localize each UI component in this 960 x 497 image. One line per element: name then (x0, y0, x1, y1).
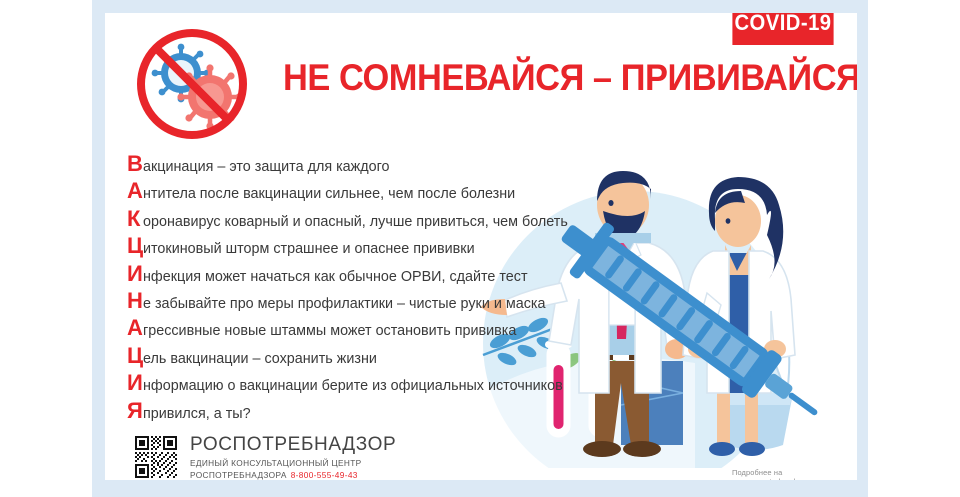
list-item: Я привился, а ты? (127, 400, 647, 427)
no-virus-prohibition-icon (128, 27, 256, 142)
list-item: Н е забывайте про меры профилактики – чи… (127, 290, 647, 317)
list-item: А нтитела после вакцинации сильнее, чем … (127, 180, 647, 207)
poster: COVID-19 (0, 0, 960, 497)
acrostic-initial: Я (127, 400, 143, 422)
acrostic-text: акцинация – это защита для каждого (143, 160, 390, 175)
acrostic-initial: И (127, 263, 143, 285)
acrostic-initial: И (127, 372, 143, 394)
acrostic-text: оронавирус коварный и опасный, лучше при… (143, 215, 568, 230)
acrostic-list: В акцинация – это защита для каждого А н… (127, 153, 647, 427)
footer: РОСПОТРЕБНАДЗОР ЕДИНЫЙ КОНСУЛЬТАЦИОННЫЙ … (133, 434, 396, 480)
consultation-center-label: РОСПОТРЕБНАДЗОРА (190, 470, 287, 480)
consultation-center-line1: ЕДИНЫЙ КОНСУЛЬТАЦИОННЫЙ ЦЕНТР (190, 457, 396, 469)
acrostic-text: итокиновый шторм страшнее и опаснее прив… (143, 242, 475, 257)
acrostic-initial: Н (127, 290, 143, 312)
list-item: Ц итокиновый шторм страшнее и опаснее пр… (127, 235, 647, 262)
acrostic-initial: К (127, 208, 143, 230)
list-item: К оронавирус коварный и опасный, лучше п… (127, 208, 647, 235)
list-item: В акцинация – это защита для каждого (127, 153, 647, 180)
acrostic-text: грессивные новые штаммы может остановить… (143, 324, 516, 339)
acrostic-initial: В (127, 153, 143, 175)
list-item: И нфекция может начаться как обычное ОРВ… (127, 263, 647, 290)
acrostic-initial: А (127, 180, 143, 202)
acrostic-text: нфекция может начаться как обычное ОРВИ,… (143, 270, 528, 285)
acrostic-text: ель вакцинации – сохранить жизни (143, 352, 377, 367)
acrostic-initial: Ц (127, 345, 143, 367)
list-item: И нформацию о вакцинации берите из офици… (127, 372, 647, 399)
acrostic-text: е забывайте про меры профилактики – чист… (143, 297, 545, 312)
acrostic-text: привился, а ты? (143, 407, 251, 422)
more-info-url[interactable]: Подробнее на www.rospotrebnadzor.ru (732, 468, 857, 480)
rospotrebnadzor-brand: РОСПОТРЕБНАДЗОР (190, 435, 396, 454)
acrostic-text: нформацию о вакцинации берите из официал… (143, 379, 563, 394)
acrostic-initial: А (127, 317, 143, 339)
poster-card: COVID-19 (105, 13, 857, 480)
list-item: Ц ель вакцинации – сохранить жизни (127, 345, 647, 372)
hotline-phone[interactable]: 8-800-555-49-43 (291, 470, 358, 480)
list-item: А грессивные новые штаммы может останови… (127, 317, 647, 344)
acrostic-text: нтитела после вакцинации сильнее, чем по… (143, 187, 515, 202)
acrostic-initial: Ц (127, 235, 143, 257)
consultation-center-line2: РОСПОТРЕБНАДЗОРА8-800-555-49-43 (190, 469, 396, 480)
covid-19-badge: COVID-19 (732, 13, 833, 45)
qr-code-icon[interactable] (133, 434, 179, 480)
